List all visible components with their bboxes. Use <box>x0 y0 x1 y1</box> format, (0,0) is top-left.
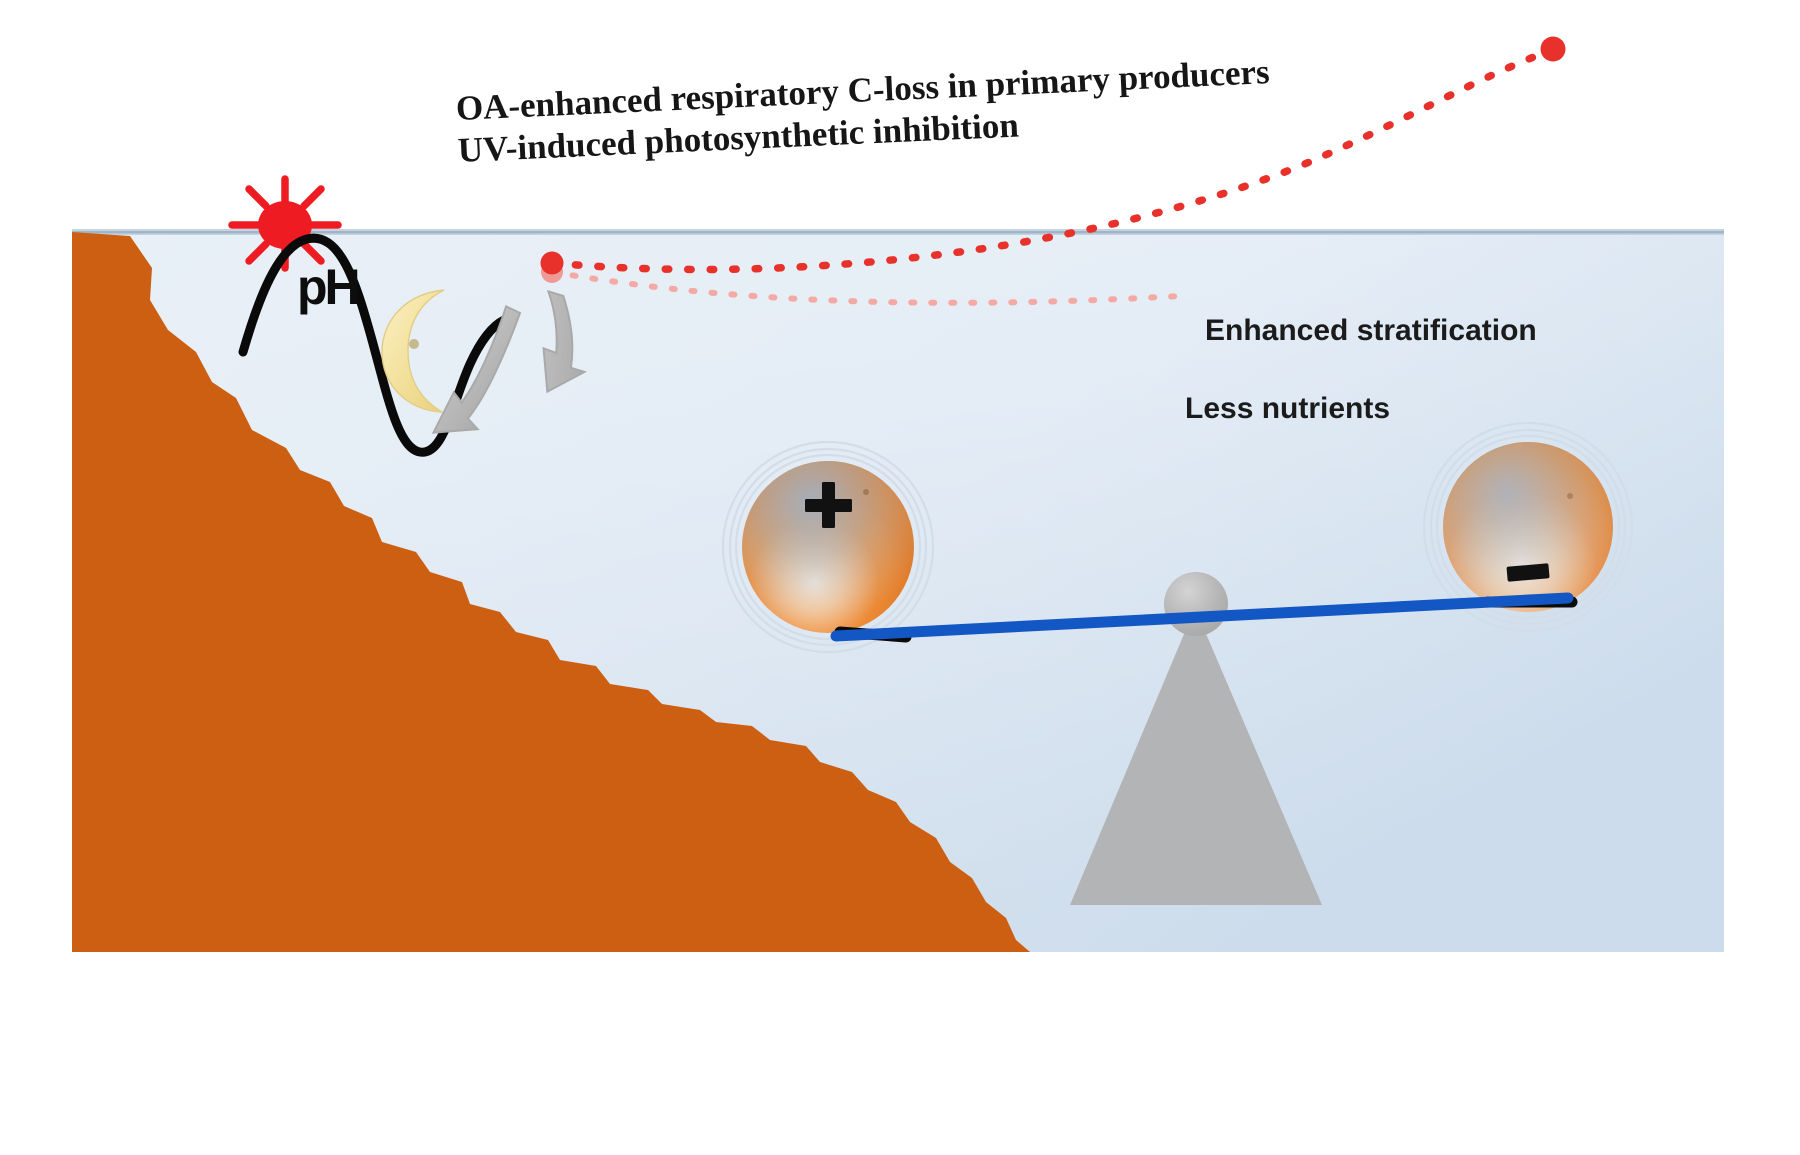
label-less-nutrients: Less nutrients <box>1185 392 1390 426</box>
fulcrum-pivot-knob <box>1164 572 1228 636</box>
trend-end-dot <box>1541 37 1566 62</box>
ocean-acidification-figure: OA-enhanced respiratory C-loss in primar… <box>0 0 1800 1155</box>
trend-start-dot <box>541 252 564 275</box>
cell-speck-right <box>1567 493 1573 499</box>
phytoplankton-cell-positive <box>723 442 933 652</box>
label-ph: pH <box>297 258 358 316</box>
moon-crater <box>409 339 419 349</box>
cell-speck-left <box>863 489 869 495</box>
diagram-canvas <box>0 0 1800 1155</box>
label-enhanced-stratification: Enhanced stratification <box>1205 314 1537 348</box>
sea-surface-line <box>72 229 1724 235</box>
